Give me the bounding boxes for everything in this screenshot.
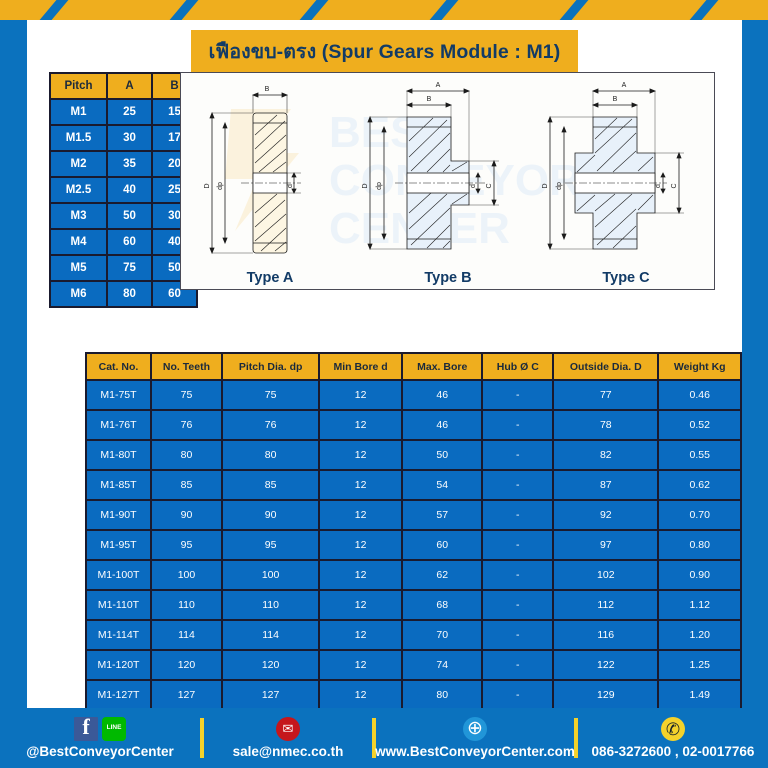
gear-diagram-type-a: B D dp d Type A [181, 73, 359, 290]
chevron-shape [437, 0, 582, 20]
spec-cell-r3-c2: 85 [223, 471, 318, 499]
pitch-cell-r3-c1: 40 [108, 178, 151, 202]
table-row: M1-80T80801250-820.55 [87, 441, 740, 469]
spec-cell-r7-c2: 110 [223, 591, 318, 619]
spec-cell-r2-c7: 0.55 [659, 441, 740, 469]
spec-col-header-6: Outside Dia. D [554, 354, 657, 379]
pitch-table-row: M1.53017 [51, 126, 196, 150]
top-decorative-band [0, 0, 768, 20]
spec-col-header-3: Min Bore d [320, 354, 401, 379]
chevron-shape [567, 0, 712, 20]
footer-item-website[interactable]: www.BestConveyorCenter.com [376, 717, 574, 759]
chevron-shape [697, 0, 768, 20]
spec-cell-r1-c4: 46 [403, 411, 482, 439]
pitch-cell-r3-c0: M2.5 [51, 178, 106, 202]
spec-cell-r7-c1: 110 [152, 591, 221, 619]
svg-text:C: C [486, 183, 493, 188]
svg-text:D: D [204, 183, 211, 188]
spec-cell-r9-c1: 120 [152, 651, 221, 679]
footer-item-phone[interactable]: 086-3272600 , 02-0017766 [578, 717, 768, 759]
page-title-wrap: เฟืองขบ-ตรง (Spur Gears Module : M1) [27, 30, 742, 74]
pitch-col-header-0: Pitch [51, 74, 106, 98]
line-icon[interactable] [102, 717, 126, 741]
spec-cell-r9-c3: 12 [320, 651, 401, 679]
type-c-drawing: A B D dp d C [537, 73, 715, 290]
spec-cell-r3-c6: 87 [554, 471, 657, 499]
spec-cell-r6-c2: 100 [223, 561, 318, 589]
spec-cell-r10-c2: 127 [223, 681, 318, 709]
table-row: M1-90T90901257-920.70 [87, 501, 740, 529]
table-row: M1-100T1001001262-1020.90 [87, 561, 740, 589]
spec-col-header-5: Hub Ø C [483, 354, 552, 379]
pitch-table-row: M2.54025 [51, 178, 196, 202]
table-row: M1-76T76761246-780.52 [87, 411, 740, 439]
spec-cell-r8-c2: 114 [223, 621, 318, 649]
spec-cell-r4-c4: 57 [403, 501, 482, 529]
chevron-shape [47, 0, 192, 20]
pitch-cell-r5-c1: 60 [108, 230, 151, 254]
spec-cell-r8-c1: 114 [152, 621, 221, 649]
phone-icon[interactable] [661, 717, 685, 741]
spec-cell-r1-c0: M1-76T [87, 411, 150, 439]
pitch-cell-r6-c0: M5 [51, 256, 106, 280]
pitch-cell-r7-c0: M6 [51, 282, 106, 306]
table-row: M1-114T1141141270-1161.20 [87, 621, 740, 649]
spec-cell-r6-c4: 62 [403, 561, 482, 589]
spec-cell-r6-c6: 102 [554, 561, 657, 589]
spec-cell-r8-c6: 116 [554, 621, 657, 649]
footer-label-website: www.BestConveyorCenter.com [375, 744, 575, 759]
spec-col-header-0: Cat. No. [87, 354, 150, 379]
spec-cell-r10-c4: 80 [403, 681, 482, 709]
svg-text:D: D [362, 183, 369, 188]
spec-cell-r5-c6: 97 [554, 531, 657, 559]
pitch-table-row: M23520 [51, 152, 196, 176]
type-a-caption: Type A [181, 270, 359, 286]
spec-col-header-4: Max. Bore [403, 354, 482, 379]
spec-cell-r10-c7: 1.49 [659, 681, 740, 709]
content-card: เฟืองขบ-ตรง (Spur Gears Module : M1) Pit… [27, 17, 742, 708]
spec-cell-r6-c7: 0.90 [659, 561, 740, 589]
spec-cell-r0-c0: M1-75T [87, 381, 150, 409]
page-title: เฟืองขบ-ตรง (Spur Gears Module : M1) [191, 30, 579, 74]
table-row: M1-75T75751246-770.46 [87, 381, 740, 409]
pitch-cell-r2-c1: 35 [108, 152, 151, 176]
gear-type-diagrams-panel: BEST CONVEYOR CENTER [180, 72, 715, 290]
spec-cell-r5-c4: 60 [403, 531, 482, 559]
spec-cell-r5-c5: - [483, 531, 552, 559]
table-row: M1-127T1271271280-1291.49 [87, 681, 740, 709]
spec-cell-r0-c6: 77 [554, 381, 657, 409]
spec-cell-r2-c5: - [483, 441, 552, 469]
spec-cell-r1-c7: 0.52 [659, 411, 740, 439]
svg-text:B: B [265, 86, 270, 93]
spec-cell-r8-c4: 70 [403, 621, 482, 649]
spec-cell-r9-c6: 122 [554, 651, 657, 679]
spec-cell-r10-c0: M1-127T [87, 681, 150, 709]
pitch-cell-r4-c0: M3 [51, 204, 106, 228]
spec-cell-r1-c1: 76 [152, 411, 221, 439]
spec-cell-r2-c3: 12 [320, 441, 401, 469]
globe-icon[interactable] [463, 717, 487, 741]
spec-cell-r0-c4: 46 [403, 381, 482, 409]
spec-cell-r7-c7: 1.12 [659, 591, 740, 619]
spec-cell-r2-c6: 82 [554, 441, 657, 469]
spec-cell-r1-c5: - [483, 411, 552, 439]
spec-cell-r5-c2: 95 [223, 531, 318, 559]
spec-cell-r4-c1: 90 [152, 501, 221, 529]
email-icon[interactable] [276, 717, 300, 741]
spec-cell-r8-c0: M1-114T [87, 621, 150, 649]
spec-cell-r0-c2: 75 [223, 381, 318, 409]
svg-text:d: d [287, 184, 294, 188]
spec-cell-r6-c3: 12 [320, 561, 401, 589]
footer-item-facebook[interactable]: @BestConveyorCenter [0, 717, 200, 759]
spec-cell-r7-c5: - [483, 591, 552, 619]
spec-cell-r1-c6: 78 [554, 411, 657, 439]
pitch-cell-r2-c0: M2 [51, 152, 106, 176]
chevron-shape [177, 0, 322, 20]
spec-cell-r9-c0: M1-120T [87, 651, 150, 679]
table-row: M1-85T85851254-870.62 [87, 471, 740, 499]
spec-col-header-2: Pitch Dia. dp [223, 354, 318, 379]
spec-col-header-1: No. Teeth [152, 354, 221, 379]
spec-cell-r10-c3: 12 [320, 681, 401, 709]
gear-diagram-type-b: A B D dp d C Type B [359, 73, 537, 290]
spec-cell-r2-c0: M1-80T [87, 441, 150, 469]
type-a-drawing: B D dp d [181, 73, 359, 290]
svg-text:dp: dp [376, 182, 383, 190]
spec-cell-r3-c7: 0.62 [659, 471, 740, 499]
svg-text:dp: dp [556, 182, 563, 190]
svg-text:C: C [671, 183, 678, 188]
pitch-table: PitchAB M12515M1.53017M23520M2.54025M350… [49, 72, 198, 308]
spec-cell-r3-c4: 54 [403, 471, 482, 499]
spec-cell-r10-c6: 129 [554, 681, 657, 709]
svg-text:A: A [436, 82, 441, 89]
spec-cell-r9-c5: - [483, 651, 552, 679]
svg-text:A: A [622, 82, 627, 89]
spec-cell-r0-c5: - [483, 381, 552, 409]
pitch-table-header-row: PitchAB [51, 74, 196, 98]
spec-cell-r2-c4: 50 [403, 441, 482, 469]
spec-cell-r9-c4: 74 [403, 651, 482, 679]
spec-cell-r4-c0: M1-90T [87, 501, 150, 529]
spec-cell-r8-c3: 12 [320, 621, 401, 649]
spec-cell-r7-c6: 112 [554, 591, 657, 619]
spec-cell-r10-c1: 127 [152, 681, 221, 709]
spec-cell-r8-c7: 1.20 [659, 621, 740, 649]
footer-label-social: @BestConveyorCenter [26, 744, 173, 759]
svg-text:dp: dp [217, 182, 224, 190]
footer-label-phone: 086-3272600 , 02-0017766 [592, 744, 755, 759]
pitch-cell-r6-c1: 75 [108, 256, 151, 280]
pitch-cell-r7-c1: 80 [108, 282, 151, 306]
footer-item-email[interactable]: sale@nmec.co.th [204, 717, 372, 759]
spec-cell-r0-c3: 12 [320, 381, 401, 409]
spec-cell-r1-c3: 12 [320, 411, 401, 439]
pitch-table-row: M57550 [51, 256, 196, 280]
spec-cell-r4-c2: 90 [223, 501, 318, 529]
spec-cell-r0-c7: 0.46 [659, 381, 740, 409]
pitch-cell-r5-c0: M4 [51, 230, 106, 254]
spec-cell-r2-c2: 80 [223, 441, 318, 469]
svg-text:B: B [427, 96, 432, 103]
svg-text:B: B [613, 96, 618, 103]
pitch-cell-r0-c0: M1 [51, 100, 106, 124]
spec-cell-r8-c5: - [483, 621, 552, 649]
type-b-caption: Type B [359, 270, 537, 286]
chevron-shape [307, 0, 452, 20]
spec-cell-r4-c5: - [483, 501, 552, 529]
table-row: M1-110T1101101268-1121.12 [87, 591, 740, 619]
spec-cell-r7-c0: M1-110T [87, 591, 150, 619]
spec-cell-r6-c0: M1-100T [87, 561, 150, 589]
spec-cell-r6-c5: - [483, 561, 552, 589]
spec-cell-r7-c3: 12 [320, 591, 401, 619]
spec-col-header-7: Weight Kg [659, 354, 740, 379]
spec-cell-r5-c0: M1-95T [87, 531, 150, 559]
spec-cell-r6-c1: 100 [152, 561, 221, 589]
spec-cell-r0-c1: 75 [152, 381, 221, 409]
svg-text:d: d [470, 184, 477, 188]
pitch-table-row: M35030 [51, 204, 196, 228]
spec-cell-r3-c3: 12 [320, 471, 401, 499]
spec-cell-r5-c3: 12 [320, 531, 401, 559]
pitch-cell-r4-c1: 50 [108, 204, 151, 228]
footer-label-email: sale@nmec.co.th [233, 744, 344, 759]
pitch-col-header-1: A [108, 74, 151, 98]
spec-cell-r10-c5: - [483, 681, 552, 709]
spec-cell-r4-c3: 12 [320, 501, 401, 529]
pitch-cell-r1-c1: 30 [108, 126, 151, 150]
facebook-icon[interactable] [74, 717, 98, 741]
spec-table-header-row: Cat. No.No. TeethPitch Dia. dpMin Bore d… [87, 354, 740, 379]
spec-cell-r9-c7: 1.25 [659, 651, 740, 679]
spec-cell-r4-c7: 0.70 [659, 501, 740, 529]
gear-diagram-type-c: A B D dp d C Type C [537, 73, 715, 290]
svg-text:d: d [655, 184, 662, 188]
type-c-caption: Type C [537, 270, 715, 286]
table-row: M1-120T1201201274-1221.25 [87, 651, 740, 679]
chevron-shape [0, 0, 61, 20]
spec-cell-r9-c2: 120 [223, 651, 318, 679]
spec-cell-r3-c0: M1-85T [87, 471, 150, 499]
table-row: M1-95T95951260-970.80 [87, 531, 740, 559]
spec-cell-r4-c6: 92 [554, 501, 657, 529]
pitch-table-row: M12515 [51, 100, 196, 124]
pitch-cell-r0-c1: 25 [108, 100, 151, 124]
spec-cell-r3-c5: - [483, 471, 552, 499]
spec-cell-r5-c7: 0.80 [659, 531, 740, 559]
svg-text:D: D [542, 183, 549, 188]
spec-cell-r7-c4: 68 [403, 591, 482, 619]
pitch-cell-r1-c0: M1.5 [51, 126, 106, 150]
footer-contact-bar: @BestConveyorCenter sale@nmec.co.th www.… [0, 708, 768, 768]
pitch-table-row: M68060 [51, 282, 196, 306]
spec-cell-r3-c1: 85 [152, 471, 221, 499]
spec-cell-r2-c1: 80 [152, 441, 221, 469]
spec-cell-r5-c1: 95 [152, 531, 221, 559]
type-b-drawing: A B D dp d C [359, 73, 537, 290]
pitch-table-row: M46040 [51, 230, 196, 254]
spec-table: Cat. No.No. TeethPitch Dia. dpMin Bore d… [85, 352, 742, 711]
spec-cell-r1-c2: 76 [223, 411, 318, 439]
